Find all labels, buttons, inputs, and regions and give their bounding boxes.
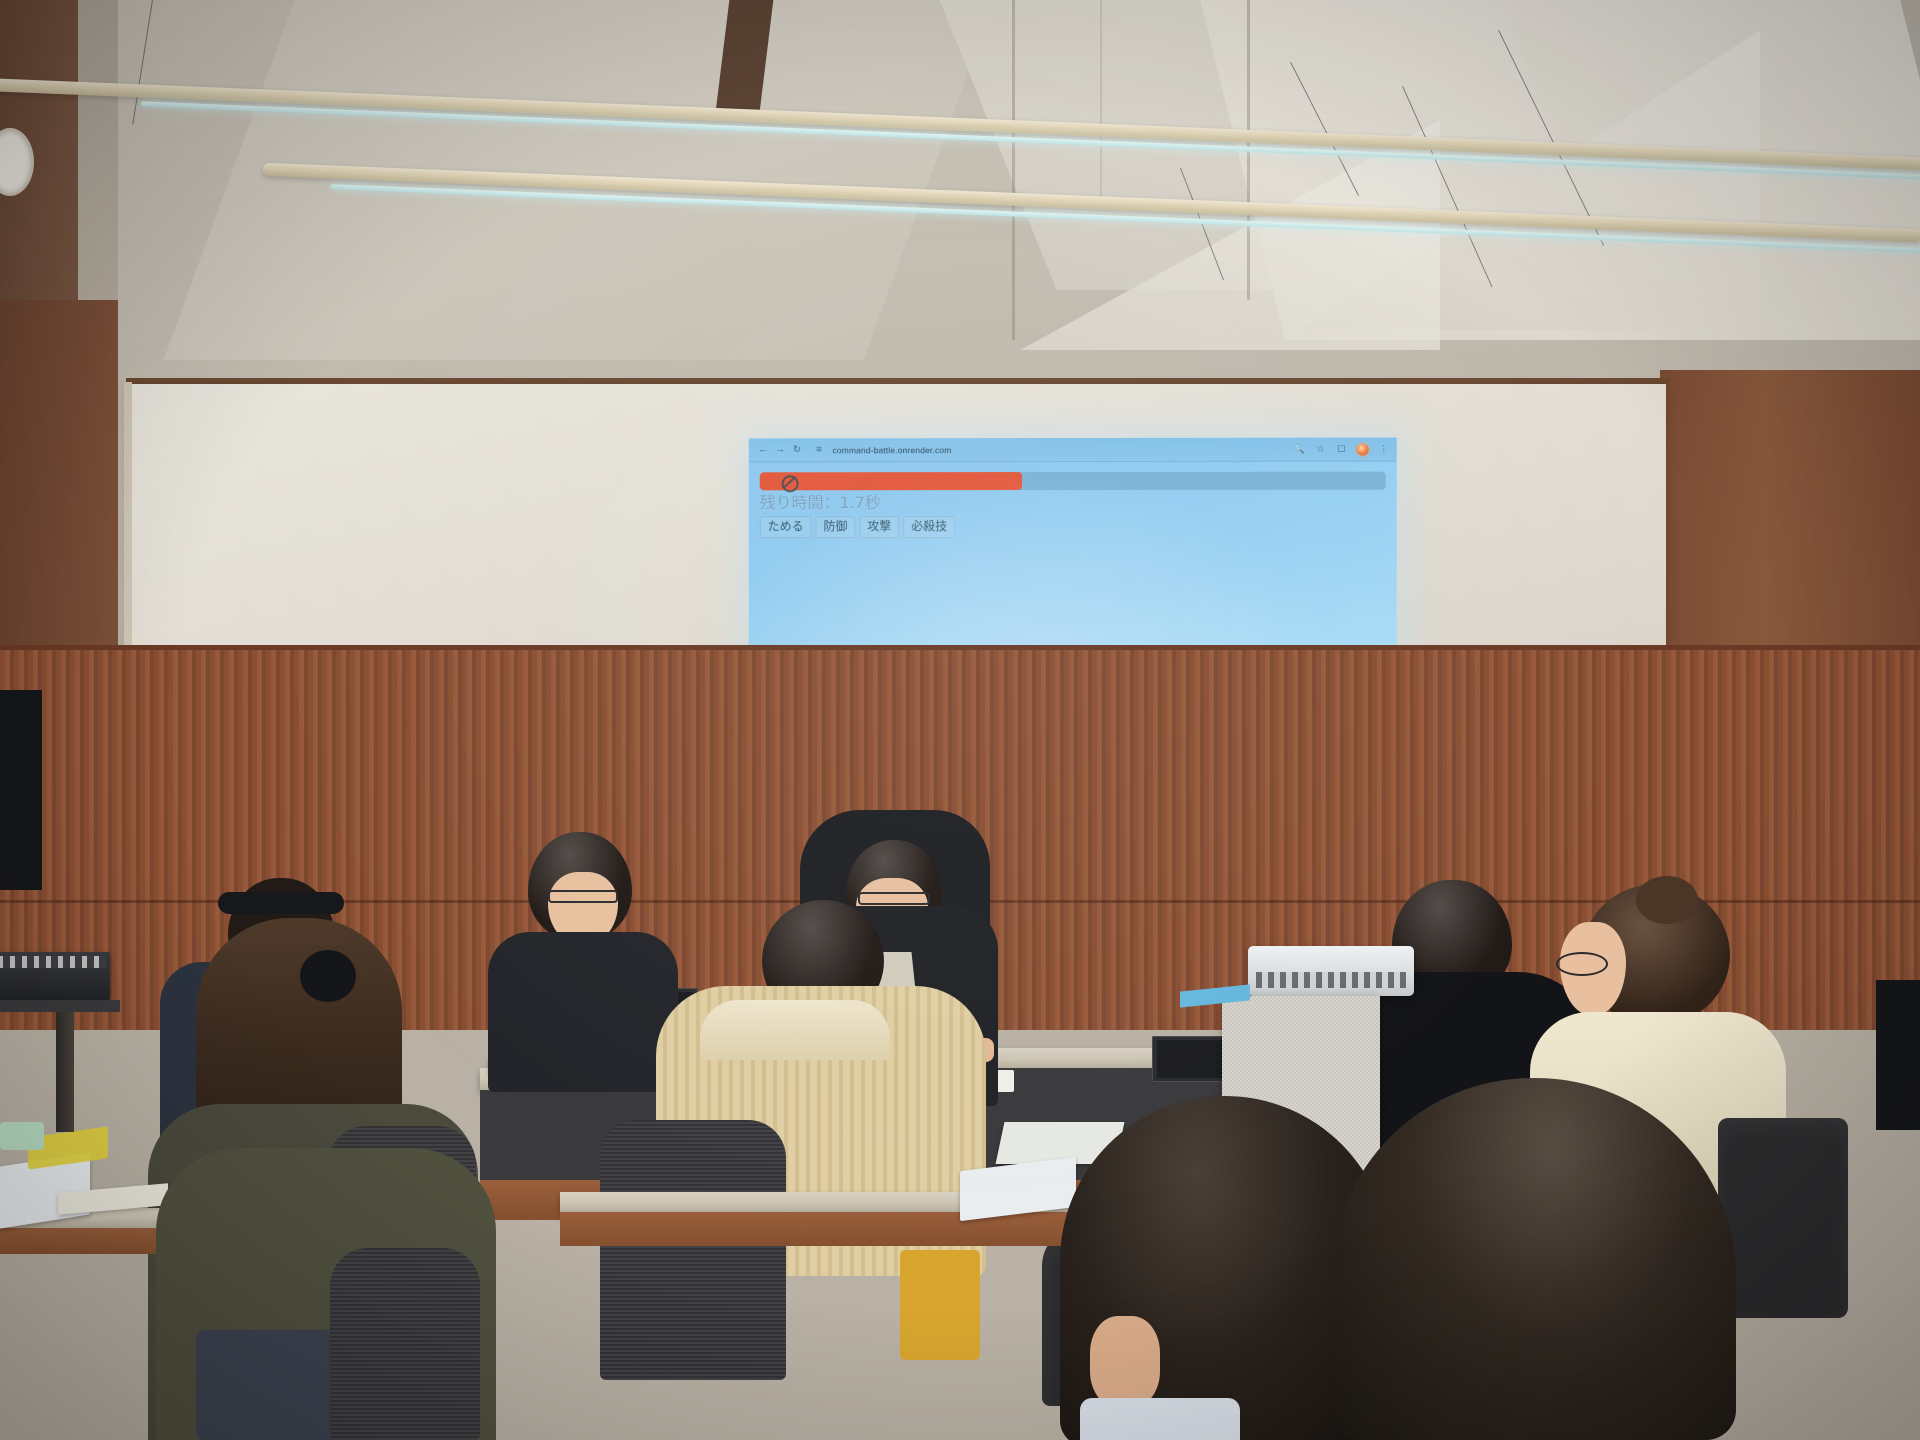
defend-button[interactable]: 防御 xyxy=(816,516,856,538)
cream-shirt-hair-bun xyxy=(1636,876,1698,924)
left-desk-skirt xyxy=(0,1228,180,1254)
audio-mixing-console[interactable] xyxy=(0,952,110,1000)
hp-bar-fill xyxy=(760,472,1022,490)
game-page-body: 残り時間：1.7秒 ためる 防御 攻撃 必殺技 xyxy=(749,462,1397,539)
presenter-glasses xyxy=(548,890,618,903)
forward-arrow-icon[interactable]: → xyxy=(773,442,788,457)
second-row-desk-skirt xyxy=(560,1212,1120,1246)
chair-center xyxy=(600,1120,786,1380)
reload-icon[interactable]: ↻ xyxy=(790,442,805,457)
browser-toolbar-right[interactable]: 🔍 ☆ ☐ ⋮ xyxy=(1293,443,1389,455)
three-dot-menu-icon[interactable]: ⋮ xyxy=(1378,443,1390,455)
tab-group-icon[interactable]: ☐ xyxy=(1336,443,1348,455)
projector-port-panel xyxy=(1256,972,1406,988)
wall-panel-left xyxy=(78,0,118,300)
hp-bar xyxy=(760,472,1386,491)
remaining-time-label: 残り時間：1.7秒 xyxy=(760,493,1386,513)
ceiling-free-projector xyxy=(1248,946,1414,996)
long-hair-headphone xyxy=(300,950,356,1002)
star-icon[interactable]: ☆ xyxy=(1314,443,1326,455)
beige-vest-collar xyxy=(700,1000,890,1060)
wall-speaker-right xyxy=(1876,980,1920,1130)
chair-bottom-left xyxy=(330,1248,480,1440)
green-item xyxy=(0,1122,44,1150)
url-text: command-battle.onrender.com xyxy=(832,445,951,455)
back-arrow-icon[interactable]: ← xyxy=(756,442,771,457)
ceiling-seam-3 xyxy=(1100,0,1102,200)
chair-far-right xyxy=(1718,1118,1848,1318)
command-button-row[interactable]: ためる 防御 攻撃 必殺技 xyxy=(760,516,1386,538)
browser-toolbar[interactable]: ← → ↻ ≡ command-battle.onrender.com 🔍 ☆ … xyxy=(749,438,1397,463)
classroom-photo-scene: ← → ↻ ≡ command-battle.onrender.com 🔍 ☆ … xyxy=(0,0,1920,1440)
cream-shirt-glasses xyxy=(1556,952,1608,976)
foreground-left-ear xyxy=(1090,1316,1160,1408)
busy-cursor-icon xyxy=(782,475,799,492)
mixer-shelf xyxy=(0,1000,120,1012)
address-bar[interactable]: ≡ command-battle.onrender.com xyxy=(812,442,1294,458)
profile-avatar-icon[interactable] xyxy=(1357,443,1369,455)
presenter-torso xyxy=(488,932,678,1092)
site-info-icon[interactable]: ≡ xyxy=(812,442,827,457)
search-icon[interactable]: 🔍 xyxy=(1293,443,1305,455)
yellow-backpack xyxy=(900,1250,980,1360)
mixer-stand-leg xyxy=(56,1012,74,1132)
ceiling-seam-1 xyxy=(1012,0,1015,340)
foreground-left-collar xyxy=(1080,1398,1240,1440)
standing-person-glasses xyxy=(858,892,930,905)
charge-button[interactable]: ためる xyxy=(760,516,812,538)
attack-button[interactable]: 攻撃 xyxy=(859,516,899,538)
headphones-band xyxy=(218,892,344,914)
mixer-knob-row[interactable] xyxy=(0,956,106,968)
wall-speaker-left xyxy=(0,690,42,890)
special-move-button[interactable]: 必殺技 xyxy=(903,516,955,538)
